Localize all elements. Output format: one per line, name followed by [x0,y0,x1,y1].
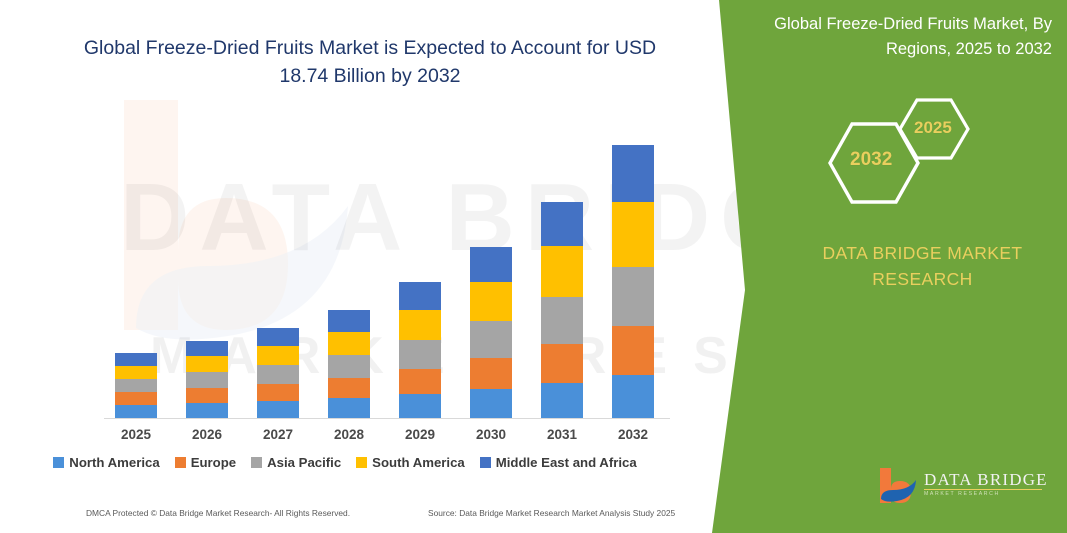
bar-segment-2026-4[interactable] [186,341,228,356]
legend-item-4[interactable]: Middle East and Africa [480,455,637,470]
x-axis-label-2028: 2028 [318,427,380,442]
x-axis-line [104,418,670,419]
page-title: Global Freeze-Dried Fruits Market is Exp… [70,34,670,90]
bar-segment-2030-0[interactable] [470,389,512,418]
bar-segment-2026-0[interactable] [186,403,228,418]
legend-swatch-icon-0 [53,457,64,468]
brand-name: DATA BRIDGE MARKET RESEARCH [790,240,1055,292]
x-axis-label-2031: 2031 [531,427,593,442]
bar-segment-2025-0[interactable] [115,405,157,418]
legend-item-3[interactable]: South America [356,455,465,470]
bar-segment-2028-3[interactable] [328,332,370,355]
hexagon-group: 2032 2025 [810,86,1060,214]
bar-segment-2028-4[interactable] [328,310,370,332]
bar-segment-2026-3[interactable] [186,356,228,372]
bar-segment-2032-3[interactable] [612,202,654,267]
infographic-canvas: DATA BRIDGE MARKET RESEARCH Global Freez… [0,0,1067,533]
bar-segment-2028-1[interactable] [328,378,370,398]
bar-segment-2030-1[interactable] [470,358,512,389]
logo-b-icon [876,466,920,510]
bar-segment-2027-2[interactable] [257,365,299,384]
bar-segment-2031-4[interactable] [541,202,583,246]
bar-segment-2032-0[interactable] [612,375,654,418]
x-axis-label-2027: 2027 [247,427,309,442]
bar-segment-2032-4[interactable] [612,145,654,202]
bar-2027[interactable] [257,328,299,418]
x-axis-label-2032: 2032 [602,427,664,442]
bar-segment-2026-2[interactable] [186,372,228,388]
bar-segment-2026-1[interactable] [186,388,228,403]
bar-segment-2028-2[interactable] [328,355,370,378]
legend-item-0[interactable]: North America [53,455,159,470]
bar-segment-2032-1[interactable] [612,326,654,375]
footer-copyright: DMCA Protected © Data Bridge Market Rese… [86,508,350,518]
logo-wordmark: DATA BRIDGE [924,470,1048,490]
bar-segment-2030-2[interactable] [470,321,512,358]
bar-segment-2025-2[interactable] [115,379,157,392]
x-axis-label-2030: 2030 [460,427,522,442]
bar-segment-2031-0[interactable] [541,383,583,418]
bar-segment-2032-2[interactable] [612,267,654,326]
legend-label-3: South America [372,455,465,470]
legend-label-0: North America [69,455,159,470]
brand-line-1: DATA BRIDGE MARKET [790,240,1055,266]
bar-segment-2029-4[interactable] [399,282,441,310]
bar-segment-2027-3[interactable] [257,346,299,365]
bar-segment-2025-4[interactable] [115,353,157,366]
footer-source: Source: Data Bridge Market Research Mark… [428,508,675,518]
bar-segment-2025-3[interactable] [115,366,157,379]
bar-segment-2030-3[interactable] [470,282,512,321]
bar-2026[interactable] [186,341,228,418]
bar-2030[interactable] [470,247,512,418]
bar-segment-2027-4[interactable] [257,328,299,346]
bar-segment-2028-0[interactable] [328,398,370,418]
bar-segment-2027-1[interactable] [257,384,299,401]
bar-segment-2029-2[interactable] [399,340,441,369]
bar-segment-2029-0[interactable] [399,394,441,418]
bar-2032[interactable] [612,145,654,418]
hexagon-2032-label: 2032 [850,149,892,171]
chart-legend: North AmericaEuropeAsia PacificSouth Ame… [0,455,690,470]
legend-label-2: Asia Pacific [267,455,341,470]
bar-segment-2025-1[interactable] [115,392,157,405]
bar-segment-2029-1[interactable] [399,369,441,394]
x-axis-label-2025: 2025 [105,427,167,442]
legend-item-2[interactable]: Asia Pacific [251,455,341,470]
brand-line-2: RESEARCH [790,266,1055,292]
bar-segment-2030-4[interactable] [470,247,512,282]
legend-swatch-icon-1 [175,457,186,468]
hexagon-2025-label: 2025 [914,118,952,138]
legend-label-1: Europe [191,455,236,470]
bar-2028[interactable] [328,310,370,418]
legend-swatch-icon-3 [356,457,367,468]
bar-segment-2031-2[interactable] [541,297,583,344]
bar-segment-2031-3[interactable] [541,246,583,297]
bar-2029[interactable] [399,282,441,418]
bar-segment-2031-1[interactable] [541,344,583,383]
company-logo: DATA BRIDGE MARKET RESEARCH [876,466,1056,514]
legend-label-4: Middle East and Africa [496,455,637,470]
legend-item-1[interactable]: Europe [175,455,236,470]
legend-swatch-icon-2 [251,457,262,468]
bar-2031[interactable] [541,202,583,418]
side-panel-title: Global Freeze-Dried Fruits Market, By Re… [742,12,1052,62]
logo-divider [924,489,1042,490]
x-axis-label-2026: 2026 [176,427,238,442]
logo-tagline: MARKET RESEARCH [924,491,1000,497]
bar-segment-2029-3[interactable] [399,310,441,340]
legend-swatch-icon-4 [480,457,491,468]
bar-segment-2027-0[interactable] [257,401,299,418]
bar-2025[interactable] [115,353,157,418]
x-axis-label-2029: 2029 [389,427,451,442]
hexagon-shapes [810,86,1060,214]
